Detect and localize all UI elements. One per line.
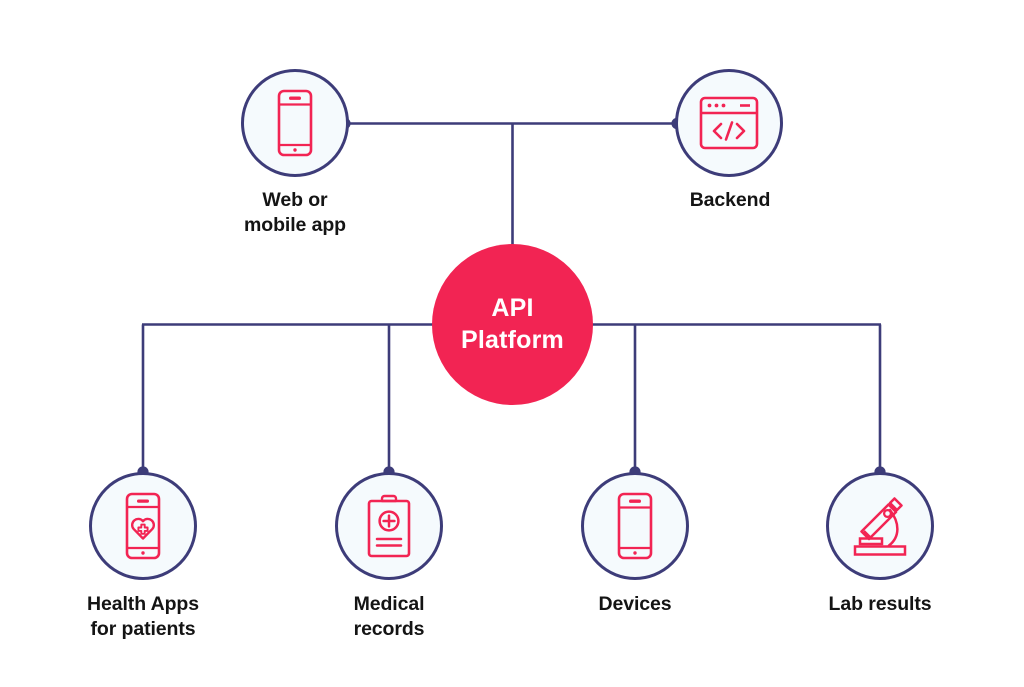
node-backend[interactable] [675, 69, 783, 177]
phone-heart-cross-icon [121, 491, 165, 561]
microscope-icon [847, 493, 913, 559]
hub-label-line2: Platform [461, 325, 564, 356]
node-health-apps[interactable] [89, 472, 197, 580]
label-web-mobile-app: Web or mobile app [215, 188, 375, 238]
mobile-phone-icon [613, 491, 657, 561]
hub-label-line1: API [491, 293, 533, 324]
label-medical-records: Medical records [309, 592, 469, 642]
node-api-platform[interactable]: API Platform [432, 244, 593, 405]
node-medical-records[interactable] [335, 472, 443, 580]
label-lab-results: Lab results [800, 592, 960, 617]
node-web-mobile-app[interactable] [241, 69, 349, 177]
mobile-phone-icon [273, 88, 317, 158]
node-devices[interactable] [581, 472, 689, 580]
code-window-icon [698, 94, 760, 152]
node-lab-results[interactable] [826, 472, 934, 580]
diagram-canvas: Web or mobile app Backend API Platform [0, 0, 1024, 687]
label-backend: Backend [650, 188, 810, 213]
label-devices: Devices [555, 592, 715, 617]
clipboard-medical-icon [363, 492, 415, 560]
label-health-apps: Health Apps for patients [63, 592, 223, 642]
